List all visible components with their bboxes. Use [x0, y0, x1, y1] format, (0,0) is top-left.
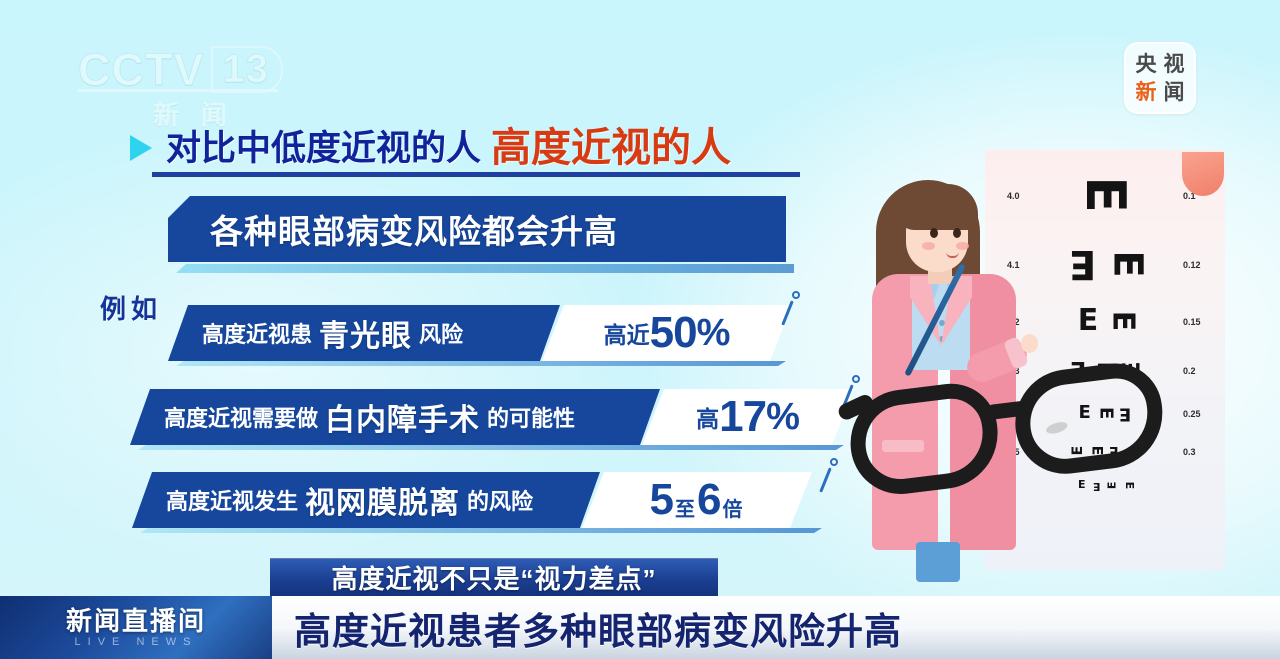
eye-chart-right-label: 0.3: [1183, 447, 1196, 457]
cctv-wordmark: CCTV 13: [78, 46, 308, 93]
pointer-tick-dot: [830, 458, 838, 466]
cctv-channel-number: 13: [211, 46, 284, 93]
stat-desc-prefix: 高度近视需要做: [164, 401, 318, 433]
optotype-e: E: [1110, 311, 1134, 332]
compare-highlight-text: 高度近视的人: [491, 128, 731, 168]
stat-desc-prefix: 高度近视发生: [166, 484, 298, 516]
stat-value: 高近 50 %: [542, 305, 792, 361]
stat-value-mid: 至: [675, 493, 695, 528]
eye-left: [930, 228, 938, 238]
sub-headline-text: 高度近视不只是“视力差点”: [331, 559, 656, 596]
program-logo: 新闻直播间 LIVE NEWS: [0, 596, 272, 659]
eye-chart-right-label: 0.12: [1183, 260, 1201, 270]
compare-prefix-text: 对比中低度近视的人: [166, 131, 481, 166]
legs: [916, 542, 960, 582]
main-banner: 各种眼部病变风险都会升高: [168, 196, 786, 262]
cheek-left: [922, 242, 935, 250]
program-name-en: LIVE NEWS: [75, 637, 198, 648]
hand: [1021, 334, 1038, 353]
headline-underline: [152, 172, 800, 177]
stat-desc-suffix: 的可能性: [487, 401, 575, 433]
stat-desc-suffix: 风险: [419, 317, 463, 349]
stat-description: 高度近视患 青光眼 风险: [168, 305, 560, 361]
stat-value-number: 17: [719, 395, 766, 439]
stat-row-underline: [140, 528, 822, 533]
stat-description: 高度近视发生 视网膜脱离 的风险: [132, 472, 600, 528]
pointer-tick: [819, 467, 832, 492]
stat-description: 高度近视需要做 白内障手术 的可能性: [130, 389, 660, 445]
eye-chart-right-label: 0.15: [1183, 317, 1201, 327]
stat-value: 5 至 6 倍: [582, 472, 812, 528]
stat-value: 高 17 %: [642, 389, 854, 445]
eye-chart-right-label: 0.2: [1183, 366, 1196, 376]
stat-desc-suffix: 的风险: [467, 484, 533, 516]
shirt-button: [939, 320, 945, 326]
stat-value-prefix: 高: [696, 400, 719, 434]
poster-curl: [1182, 152, 1224, 196]
optotype-e: E: [1069, 248, 1096, 280]
stat-value-number: 50: [650, 311, 697, 355]
cctv-news-badge: 央 视 新 闻: [1124, 42, 1196, 114]
stat-desc-emphasis: 青光眼: [319, 311, 412, 355]
optotype-e: E: [1112, 250, 1144, 277]
compare-headline: 对比中低度近视的人 高度近视的人: [130, 128, 731, 168]
eye-right: [953, 228, 961, 238]
badge-char-1: 央: [1136, 54, 1157, 75]
badge-char-2: 视: [1164, 54, 1185, 75]
stat-value-unit: 倍: [722, 493, 742, 528]
stat-row: 高度近视患 青光眼 风险 高近 50 %: [168, 305, 792, 361]
stat-row: 高度近视发生 视网膜脱离 的风险 5 至 6 倍: [132, 472, 812, 528]
stat-desc-prefix: 高度近视患: [202, 317, 312, 349]
main-banner-text: 各种眼部病变风险都会升高: [210, 205, 618, 253]
cctv-sub-label: 新闻: [78, 95, 308, 132]
badge-char-3: 新: [1136, 82, 1157, 103]
glasses-lens-right: [1009, 358, 1169, 479]
badge-char-4: 闻: [1164, 82, 1185, 103]
hair-fringe: [898, 184, 978, 230]
stat-row-underline: [176, 361, 786, 366]
stat-value-unit: %: [766, 396, 800, 439]
eye-chart-right-label: 0.25: [1183, 409, 1201, 419]
stat-value-prefix: 5: [650, 478, 673, 522]
cheek-right: [956, 242, 969, 250]
main-banner-shadow: [176, 264, 794, 273]
cctv-letters: CCTV: [78, 47, 205, 92]
cctv13-watermark: CCTV 13 新闻: [78, 46, 308, 126]
broadcast-screen: CCTV 13 新闻 央 视 新 闻 对比中低度近视的人 高度近视的人 各种眼部…: [0, 0, 1280, 659]
stat-value-prefix: 高近: [604, 316, 650, 350]
lower-third-headline: 高度近视患者多种眼部病变风险升高: [272, 601, 1280, 655]
stat-desc-emphasis: 白内障手术: [325, 395, 480, 439]
stat-value-unit: %: [697, 312, 731, 355]
play-triangle-icon: [130, 135, 152, 161]
optotype-e: E: [1083, 177, 1126, 214]
pointer-tick-dot: [792, 291, 800, 299]
sub-headline-bar: 高度近视不只是“视力差点”: [270, 558, 718, 596]
optometrist-illustration: E4.00.1EE4.10.12EE4.20.15EEE4.30.2EEE4.4…: [840, 130, 1280, 600]
program-name-cn: 新闻直播间: [66, 608, 206, 634]
stat-row-underline: [138, 445, 844, 450]
stat-row: 高度近视需要做 白内障手术 的可能性 高 17 %: [130, 389, 854, 445]
example-label: 例如: [100, 289, 162, 326]
optotype-e: E: [1078, 309, 1099, 333]
stat-desc-emphasis: 视网膜脱离: [305, 478, 460, 522]
stat-value-number: 6: [697, 478, 720, 522]
lower-third-bar: 新闻直播间 LIVE NEWS 高度近视患者多种眼部病变风险升高: [0, 596, 1280, 659]
